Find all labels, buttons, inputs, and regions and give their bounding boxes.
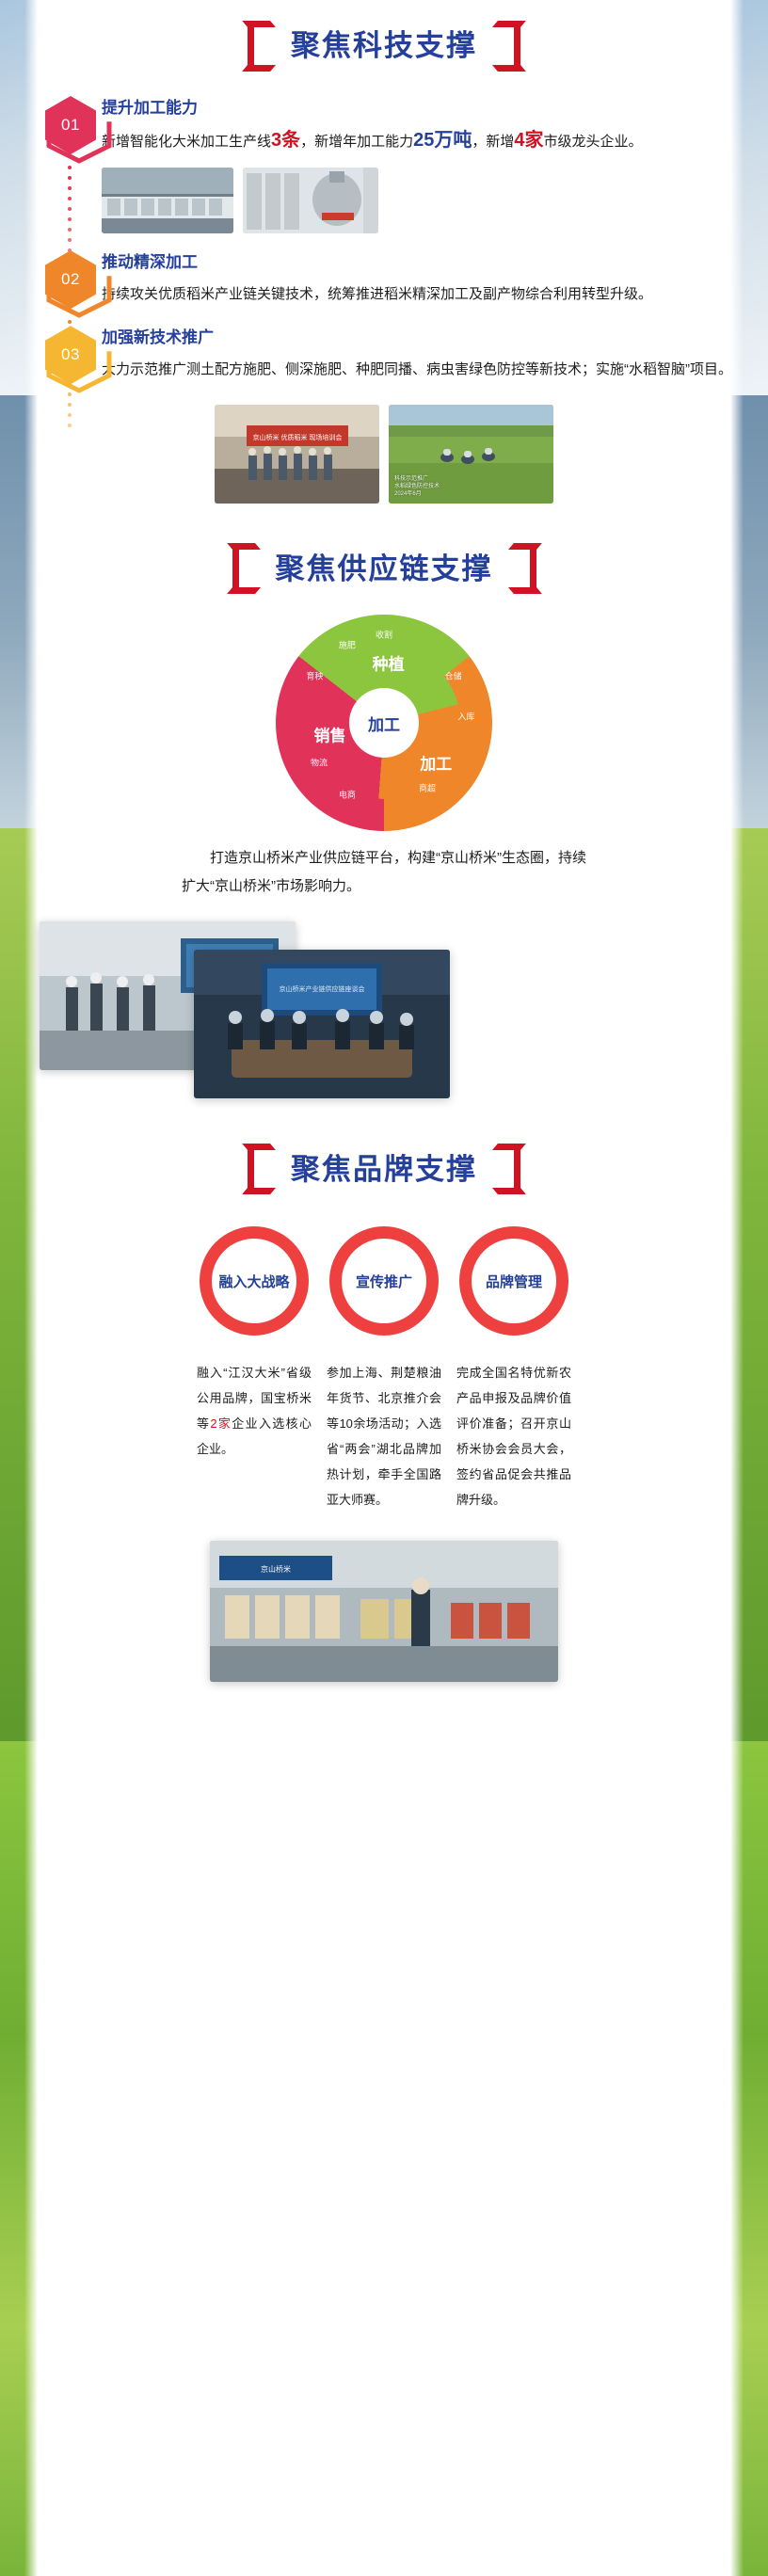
section-header-supply: 聚焦供应链支撑 xyxy=(0,543,768,594)
section-title-tech: 聚焦科技支撑 xyxy=(291,28,477,63)
supply-desc-text: 打造京山桥米产业供应链平台，构建“京山桥米”生态圈，持续扩大“京山桥米”市场影响… xyxy=(182,850,586,894)
timeline-text-02: 持续攻关优质稻米产业链关键技术，统筹推进稻米精深加工及副产物综合利用转型升级。 xyxy=(102,280,736,309)
brand-expo-booth-photo: 京山桥米 xyxy=(210,1541,558,1682)
svg-text:京山桥米: 京山桥米 xyxy=(261,1564,291,1574)
brand-circle-label: 融入大战略 xyxy=(218,1272,289,1291)
brand-text-columns: 融入“江汉大米”省级公用品牌，国宝桥米等2家企业入选核心企业。 参加上海、荆楚粮… xyxy=(0,1360,768,1512)
donut-sub-label-ruku: 入库 xyxy=(457,711,474,723)
donut-sub-label-dianshang: 电商 xyxy=(339,789,356,801)
tech-photos-row-2: 京山桥米 优质稻米 现场培训会 xyxy=(0,405,768,504)
paddy-field-photo: 科技示范推广水稻绿色防控技术2024年6月 xyxy=(389,405,553,504)
factory-photo-art xyxy=(102,168,233,233)
brand-expo-art: 京山桥米 xyxy=(210,1541,558,1682)
donut-sub-label-shifei: 施肥 xyxy=(339,639,356,651)
brand-col1-highlight: 2家 xyxy=(210,1416,232,1431)
bracket-right-icon xyxy=(492,1144,520,1194)
brand-column-1: 融入“江汉大米”省级公用品牌，国宝桥米等2家企业入选核心企业。 xyxy=(197,1360,312,1512)
donut-label-sales: 销售 xyxy=(314,722,346,745)
hex-outline-01 xyxy=(43,89,113,163)
timeline-title-03: 加强新技术推广 xyxy=(102,328,736,348)
brand-circle-promotion[interactable]: 宣传推广 xyxy=(329,1226,439,1336)
donut-sub-label-cangchu: 仓储 xyxy=(445,669,462,681)
conference-photo-art: 京山桥米产业链供应链座谈会 xyxy=(194,950,450,1098)
hex-badge-03: 03 xyxy=(45,326,96,384)
brand-column-2: 参加上海、荆楚粮油年货节、北京推介会等10余场活动；入选省“两会”湖北品牌加热计… xyxy=(327,1360,441,1512)
hex-badge-01: 01 xyxy=(45,96,96,154)
tech-photos-row-1 xyxy=(102,168,736,233)
bracket-left-icon xyxy=(248,1144,276,1194)
timeline-body-01: 提升加工能力 新增智能化大米加工生产线3条，新增年加工能力25万吨，新增4家市级… xyxy=(102,96,736,233)
factory-exterior-photo xyxy=(102,168,233,233)
donut-label-processing: 加工 xyxy=(420,750,452,774)
section-title-supply: 聚焦供应链支撑 xyxy=(276,552,493,586)
timeline-title-02: 推动精深加工 xyxy=(102,252,736,273)
timeline-body-03: 加强新技术推广 大力示范推广测土配方施肥、侧深施肥、种肥同播、病虫害绿色防控等新… xyxy=(102,326,736,384)
brand-photo-wrap: 京山桥米 xyxy=(0,1541,768,1720)
section-title-brand: 聚焦品牌支撑 xyxy=(291,1152,477,1187)
timeline-item-02: 02 推动精深加工 持续攻关优质稻米产业链关键技术，统筹推进稻米精深加工及副产物… xyxy=(41,250,736,309)
timeline-item-03: 03 加强新技术推广 大力示范推广测土配方施肥、侧深施肥、种肥同播、病虫害绿色防… xyxy=(41,326,736,384)
bracket-left-icon xyxy=(232,543,261,594)
highlight-capacity: 25万吨 xyxy=(413,130,472,151)
timeline-gutter-01: 01 xyxy=(41,96,102,154)
section-header-tech: 聚焦科技支撑 xyxy=(0,0,768,72)
rice-silo-photo xyxy=(243,168,378,233)
hex-badge-02: 02 xyxy=(45,250,96,309)
donut-sub-label-shoufu: 收割 xyxy=(376,628,392,640)
timeline-gutter-02: 02 xyxy=(41,250,102,309)
supply-chain-description: 打造京山桥米产业供应链平台，构建“京山桥米”生态圈，持续扩大“京山桥米”市场影响… xyxy=(182,844,586,901)
timeline-text-01: 新增智能化大米加工生产线3条，新增年加工能力25万吨，新增4家市级龙头企业。 xyxy=(102,126,736,156)
timeline-body-02: 推动精深加工 持续攻关优质稻米产业链关键技术，统筹推进稻米精深加工及副产物综合利… xyxy=(102,250,736,309)
silo-photo-art xyxy=(243,168,378,233)
svg-text:京山桥米产业链供应链座谈会: 京山桥米产业链供应链座谈会 xyxy=(280,984,365,993)
hex-outline-02 xyxy=(43,244,113,317)
highlight-count: 4家 xyxy=(514,130,543,151)
brand-circle-label: 宣传推广 xyxy=(356,1272,412,1291)
donut-sub-label-wuliu: 物流 xyxy=(311,756,328,768)
brand-circles: 融入大战略 宣传推广 品牌管理 xyxy=(0,1226,768,1336)
txt-seg: 市级龙头企业。 xyxy=(544,134,643,150)
conference-room-photo: 京山桥米产业链供应链座谈会 xyxy=(194,950,450,1098)
donut-label-planting: 种植 xyxy=(373,650,405,674)
txt-seg: ，新增年加工能力 xyxy=(300,134,413,150)
bracket-right-icon xyxy=(508,543,536,594)
timeline-title-01: 提升加工能力 xyxy=(102,98,736,119)
bracket-left-icon xyxy=(248,21,276,72)
paddy-field-caption: 科技示范推广水稻绿色防控技术2024年6月 xyxy=(394,475,440,498)
donut-sub-label-shangchao: 商超 xyxy=(419,782,436,794)
highlight-number: 3 xyxy=(271,130,281,151)
hex-outline-03 xyxy=(43,319,113,392)
bracket-right-icon xyxy=(492,21,520,72)
brand-col3-text: 完成全国名特优新农产品申报及品牌价值评价准备；召开京山桥米协会会员大会，签约省品… xyxy=(456,1366,571,1507)
tech-timeline: 01 提升加工能力 新增智能化大米加工生产线3条，新增年加工能力25万吨，新增4… xyxy=(0,96,768,384)
section-header-brand: 聚焦品牌支撑 xyxy=(0,1144,768,1194)
brand-circle-label: 品牌管理 xyxy=(486,1272,542,1291)
training-hall-art: 京山桥米 优质稻米 现场培训会 xyxy=(215,405,379,504)
brand-circle-management[interactable]: 品牌管理 xyxy=(459,1226,568,1336)
svg-text:京山桥米 优质稻米 现场培训会: 京山桥米 优质稻米 现场培训会 xyxy=(253,433,343,441)
timeline-text-03: 大力示范推广测土配方施肥、侧深施肥、种肥同播、病虫害绿色防控等新技术；实施“水稻… xyxy=(102,356,736,384)
training-hall-photo: 京山桥米 优质稻米 现场培训会 xyxy=(215,405,379,504)
timeline-item-01: 01 提升加工能力 新增智能化大米加工生产线3条，新增年加工能力25万吨，新增4… xyxy=(41,96,736,233)
supply-photos: 京山桥米产业链供应链座谈会 xyxy=(0,921,768,1100)
highlight-unit: 条 xyxy=(281,130,300,151)
brand-col2-text: 参加上海、荆楚粮油年货节、北京推介会等10余场活动；入选省“两会”湖北品牌加热计… xyxy=(327,1366,441,1507)
txt-seg: 新增智能化大米加工生产线 xyxy=(102,134,271,150)
brand-column-3: 完成全国名特优新农产品申报及品牌价值评价准备；召开京山桥米协会会员大会，签约省品… xyxy=(456,1360,571,1512)
donut-center-label: 加工 xyxy=(349,688,419,758)
txt-seg: ，新增 xyxy=(472,134,514,150)
timeline-gutter-03: 03 xyxy=(41,326,102,384)
supply-chain-donut-chart: 加工 收割 施肥 育秧 仓储 入库 商超 物流 电商 种植 加工 销售 xyxy=(276,615,492,831)
brand-circle-strategy[interactable]: 融入大战略 xyxy=(200,1226,309,1336)
donut-sub-label-yuyang: 育秧 xyxy=(306,669,323,681)
